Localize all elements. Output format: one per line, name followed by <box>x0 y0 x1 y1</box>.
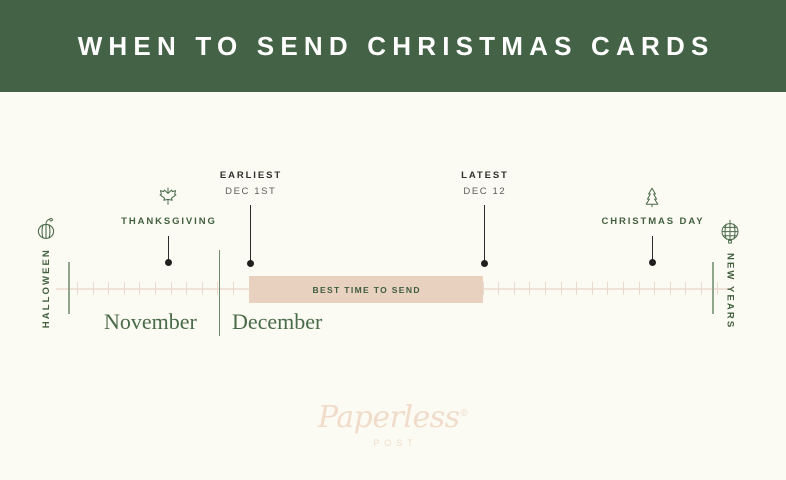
logo-wordmark-text: Paperless <box>318 400 460 435</box>
timeline-tick <box>670 282 671 295</box>
callout-latest: LATEST DEC 12 <box>459 170 509 197</box>
timeline-tick <box>139 282 140 295</box>
timeline-tick <box>607 282 608 295</box>
callout-latest-line2: DEC 12 <box>459 186 509 197</box>
callout-thanksgiving: THANKSGIVING <box>119 216 217 227</box>
disco-ball-icon <box>718 219 742 245</box>
header-band: WHEN TO SEND CHRISTMAS CARDS <box>0 0 786 92</box>
new-years-label: NEW YEARS <box>725 251 736 329</box>
callout-earliest: EARLIEST DEC 1ST <box>218 170 282 197</box>
timeline-tick <box>171 282 172 295</box>
timeline-tick <box>155 282 156 295</box>
timeline-tick <box>233 282 234 295</box>
infographic-canvas: WHEN TO SEND CHRISTMAS CARDS BEST TIME T… <box>0 0 786 480</box>
timeline-tick <box>561 282 562 295</box>
maple-leaf-icon <box>157 185 179 207</box>
christmas-tree-icon <box>641 186 663 208</box>
marker-stem <box>168 236 169 260</box>
logo-registered-mark: ® <box>460 409 469 419</box>
month-label-december: December <box>232 309 322 335</box>
timeline-tick <box>529 282 530 295</box>
marker-dot <box>165 259 172 266</box>
month-label-november: November <box>104 309 197 335</box>
timeline-tick <box>514 282 515 295</box>
marker-dot <box>481 260 488 267</box>
timeline-tick <box>654 282 655 295</box>
timeline-tick <box>498 282 499 295</box>
timeline-tick <box>545 282 546 295</box>
timeline-tick <box>576 282 577 295</box>
timeline-tick <box>77 282 78 295</box>
new-years-group: NEW YEARS <box>718 219 742 329</box>
logo-subtext: POST <box>368 438 418 448</box>
marker-dot <box>247 260 254 267</box>
marker-dot <box>649 259 656 266</box>
callout-christmas-day: CHRISTMAS DAY <box>600 216 705 227</box>
timeline-tick <box>592 282 593 295</box>
timeline-tick <box>202 282 203 295</box>
callout-latest-line1: LATEST <box>459 170 509 181</box>
callout-earliest-line1: EARLIEST <box>218 170 282 181</box>
marker-stem <box>250 205 251 261</box>
timeline-tick <box>701 282 702 295</box>
best-time-to-send-bar: BEST TIME TO SEND <box>249 276 483 303</box>
timeline-tick <box>108 282 109 295</box>
timeline-tick <box>93 282 94 295</box>
logo-wordmark: Paperless® <box>318 400 468 435</box>
month-divider <box>219 250 220 336</box>
callout-earliest-line2: DEC 1ST <box>218 186 282 197</box>
timeline-tick <box>685 282 686 295</box>
timeline-tick <box>124 282 125 295</box>
page-title: WHEN TO SEND CHRISTMAS CARDS <box>72 31 715 62</box>
callout-thanksgiving-line1: THANKSGIVING <box>119 216 217 227</box>
pumpkin-icon <box>34 216 58 242</box>
marker-stem <box>484 205 485 261</box>
timeline-tick <box>639 282 640 295</box>
timeline-end-cap <box>712 262 714 314</box>
timeline-tick <box>623 282 624 295</box>
timeline-tick <box>186 282 187 295</box>
halloween-group: HALLOWEEN <box>34 216 58 330</box>
timeline-start-cap <box>68 262 70 314</box>
halloween-label: HALLOWEEN <box>41 248 52 330</box>
best-time-to-send-label: BEST TIME TO SEND <box>311 285 421 295</box>
paperless-post-logo: Paperless® POST <box>0 400 786 448</box>
callout-christmas-day-line1: CHRISTMAS DAY <box>600 216 705 227</box>
marker-stem <box>652 236 653 260</box>
